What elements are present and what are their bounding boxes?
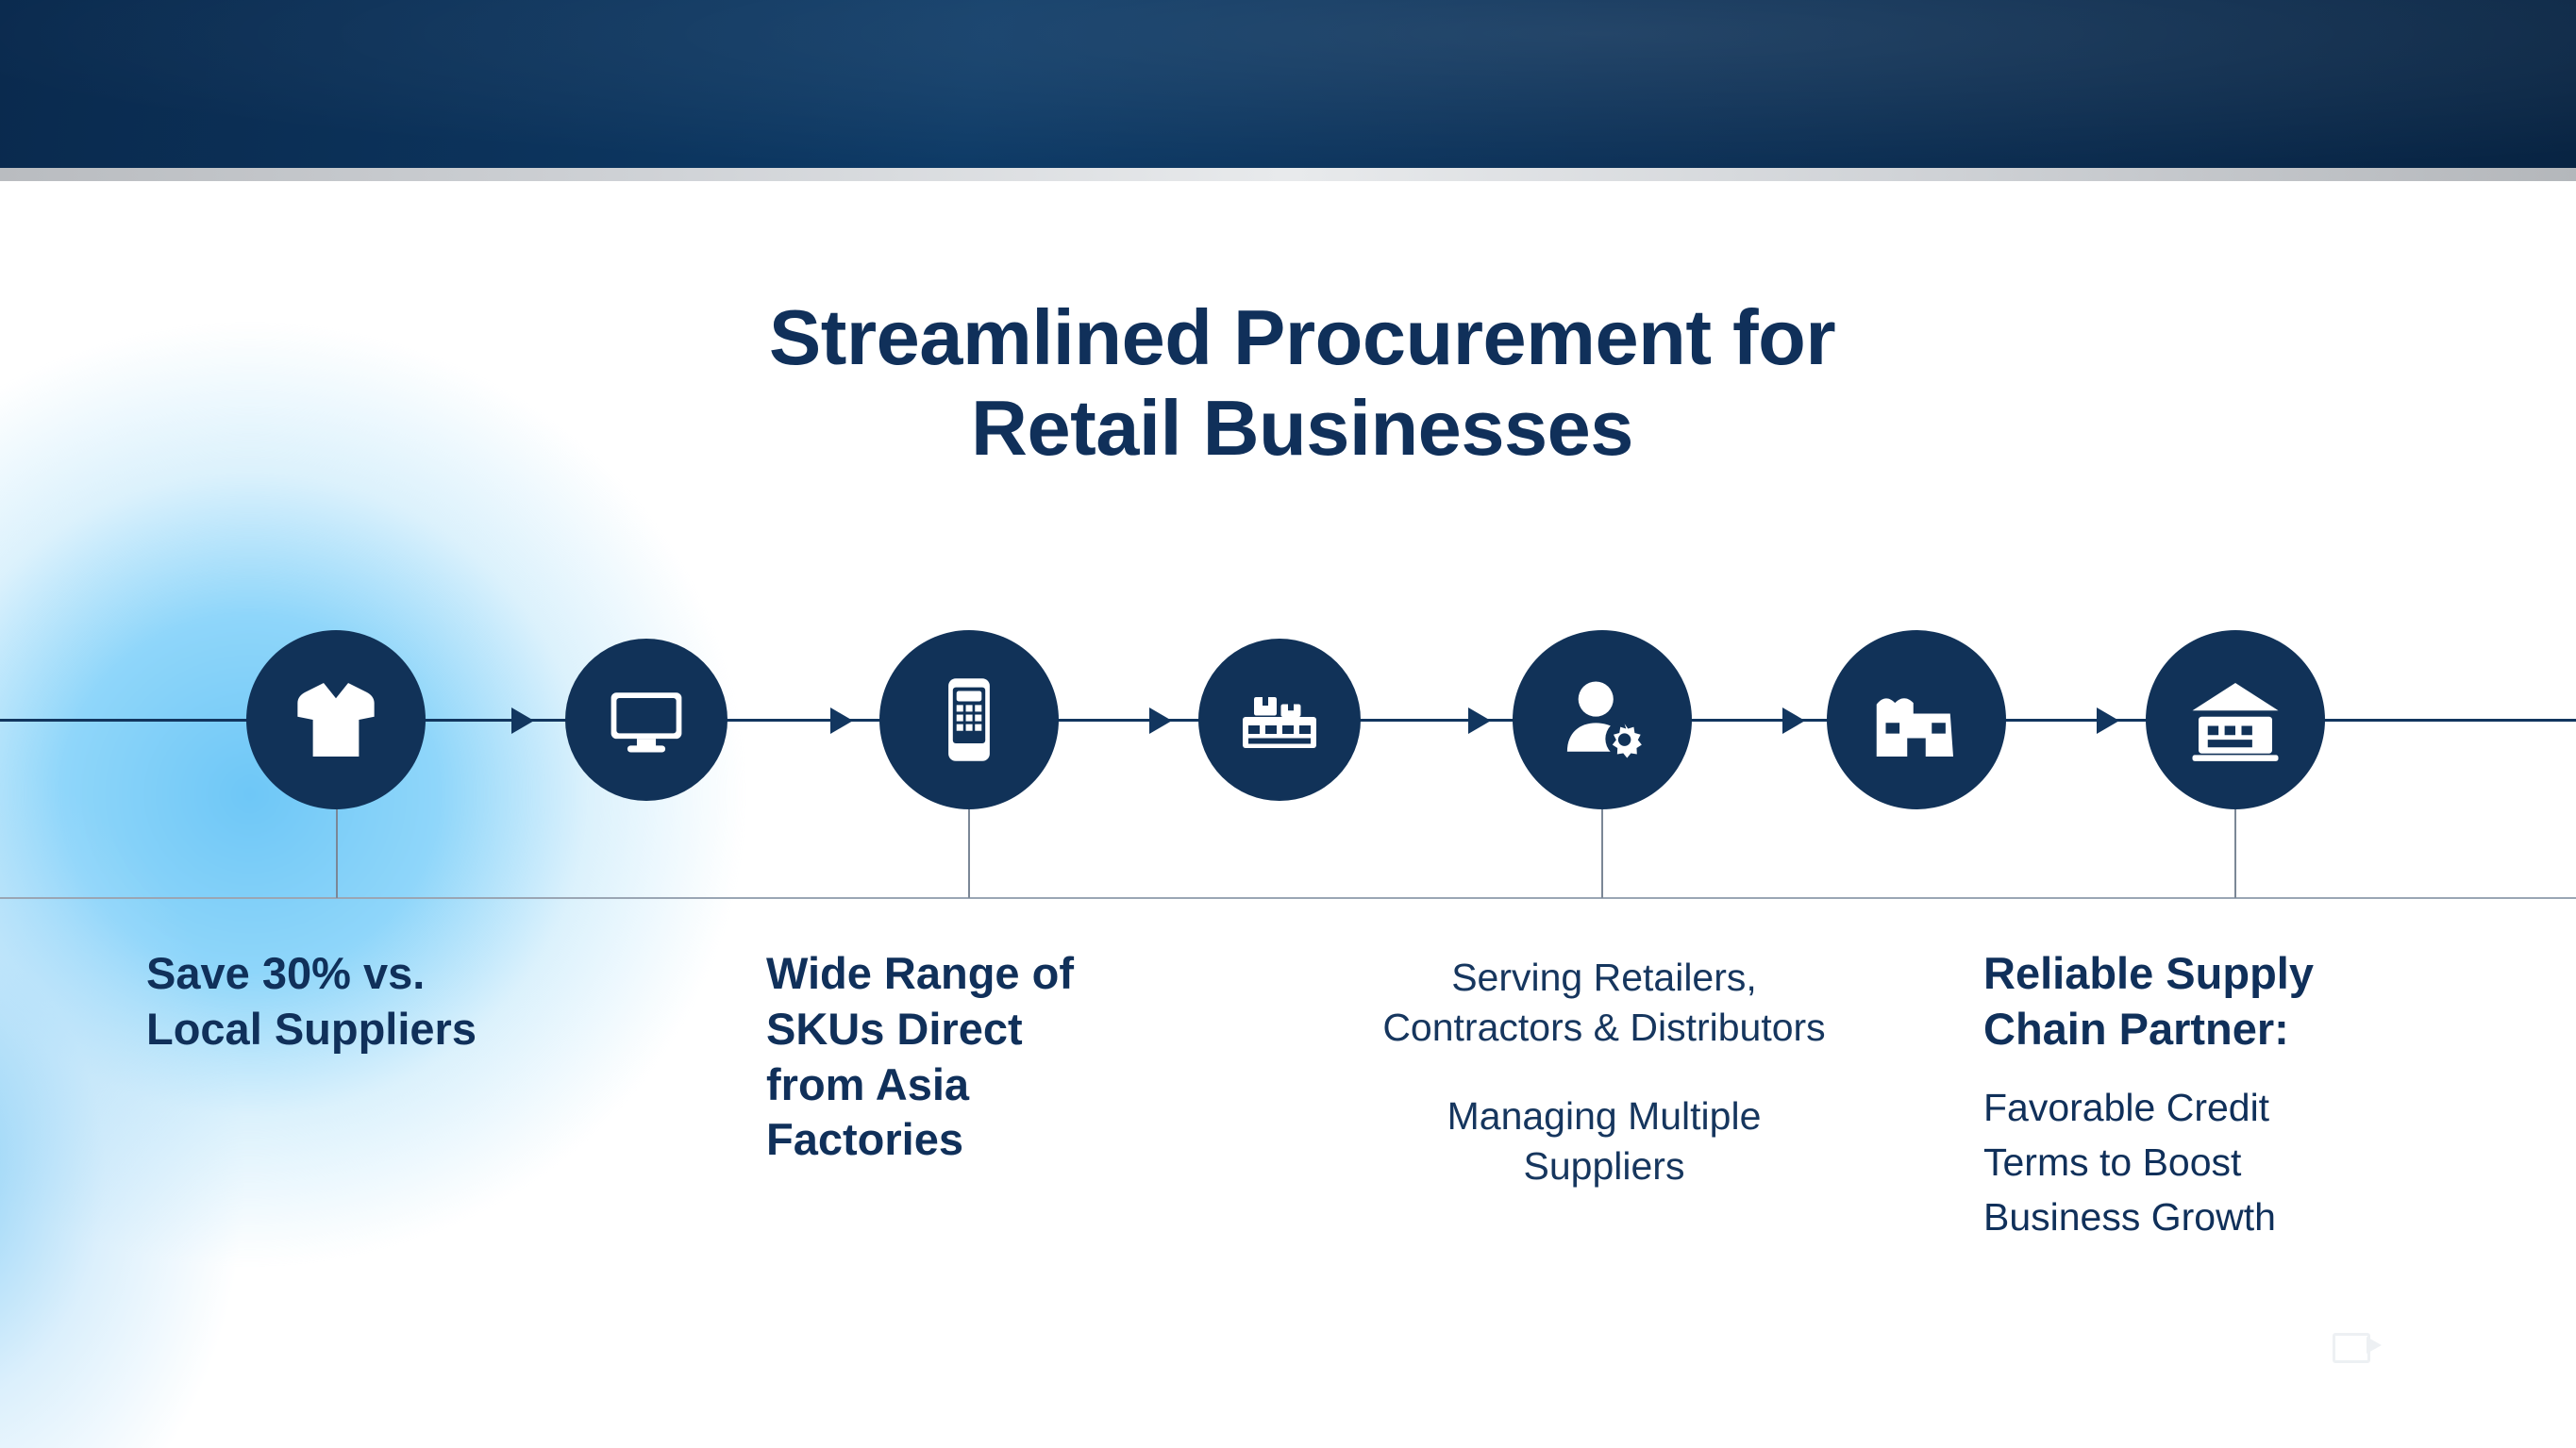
flow-node-supplier-management[interactable]: [1513, 630, 1692, 809]
top-banner: [0, 0, 2576, 168]
flow-arrow-5: [1782, 707, 1805, 734]
bank-icon: [2186, 671, 2284, 769]
blue-gradient-glow-secondary: [0, 747, 661, 1448]
flow-node-smartphone[interactable]: [879, 630, 1059, 809]
flow-node-bank[interactable]: [2146, 630, 2325, 809]
shirt-icon: [287, 671, 385, 769]
flow-node-warehouse[interactable]: [1198, 639, 1361, 801]
caption-supply-chain-line-1: Reliable Supply: [1983, 946, 2512, 1002]
smartphone-icon: [922, 673, 1016, 767]
caption-supply-chain-sub-3: Business Growth: [1983, 1191, 2512, 1242]
caption-sku-line-1: Wide Range of: [766, 946, 1257, 1002]
caption-customers-line-4: Suppliers: [1283, 1141, 1925, 1191]
caption-supply-chain-sub-2: Terms to Boost: [1983, 1137, 2512, 1188]
caption-customers: Serving Retailers, Contractors & Distrib…: [1283, 953, 1925, 1191]
flow-arrow-6: [2097, 707, 2119, 734]
caption-customers-spacer: [1283, 1054, 1925, 1091]
flow-node-shirt[interactable]: [246, 630, 426, 809]
caption-supply-chain-sub-1: Favorable Credit: [1983, 1082, 2512, 1133]
flow-arrow-4: [1468, 707, 1491, 734]
caption-sku-line-4: Factories: [766, 1112, 1257, 1168]
user-gear-icon: [1551, 669, 1653, 771]
caption-savings-line-1: Save 30% vs.: [146, 946, 675, 1002]
caption-sku-line-3: from Asia: [766, 1057, 1257, 1113]
monitor-icon: [603, 676, 690, 763]
stem-1: [336, 809, 338, 898]
flow-arrow-3: [1149, 707, 1172, 734]
caption-savings-line-2: Local Suppliers: [146, 1002, 675, 1057]
page-title: Streamlined Procurement for Retail Busin…: [576, 292, 2029, 474]
page-title-line-1: Streamlined Procurement for: [769, 293, 1835, 381]
caption-supply-chain-line-2: Chain Partner:: [1983, 1002, 2512, 1057]
slide-canvas: Streamlined Procurement for Retail Busin…: [0, 0, 2576, 1448]
flow-node-factory[interactable]: [1827, 630, 2006, 809]
flow-arrow-1: [511, 707, 534, 734]
caption-sku-line-2: SKUs Direct: [766, 1002, 1257, 1057]
caption-sku-range: Wide Range of SKUs Direct from Asia Fact…: [766, 946, 1257, 1168]
watermark-icon: [2333, 1329, 2391, 1361]
caption-customers-line-2: Contractors & Distributors: [1283, 1003, 1925, 1053]
page-title-line-2: Retail Businesses: [576, 383, 2029, 474]
caption-supply-chain: Reliable Supply Chain Partner: Favorable…: [1983, 946, 2512, 1242]
flow-node-monitor[interactable]: [565, 639, 728, 801]
caption-savings: Save 30% vs. Local Suppliers: [146, 946, 675, 1057]
factory-icon: [1867, 671, 1965, 769]
caption-customers-line-3: Managing Multiple: [1283, 1091, 1925, 1141]
stem-2: [968, 809, 970, 898]
stem-3: [1601, 809, 1603, 898]
stem-4: [2234, 809, 2236, 898]
flow-arrow-2: [830, 707, 853, 734]
caption-customers-line-1: Serving Retailers,: [1283, 953, 1925, 1003]
caption-divider-rule: [0, 897, 2576, 899]
top-banner-sheen: [0, 0, 2576, 168]
warehouse-boxes-icon: [1234, 674, 1325, 765]
banner-divider: [0, 168, 2576, 181]
